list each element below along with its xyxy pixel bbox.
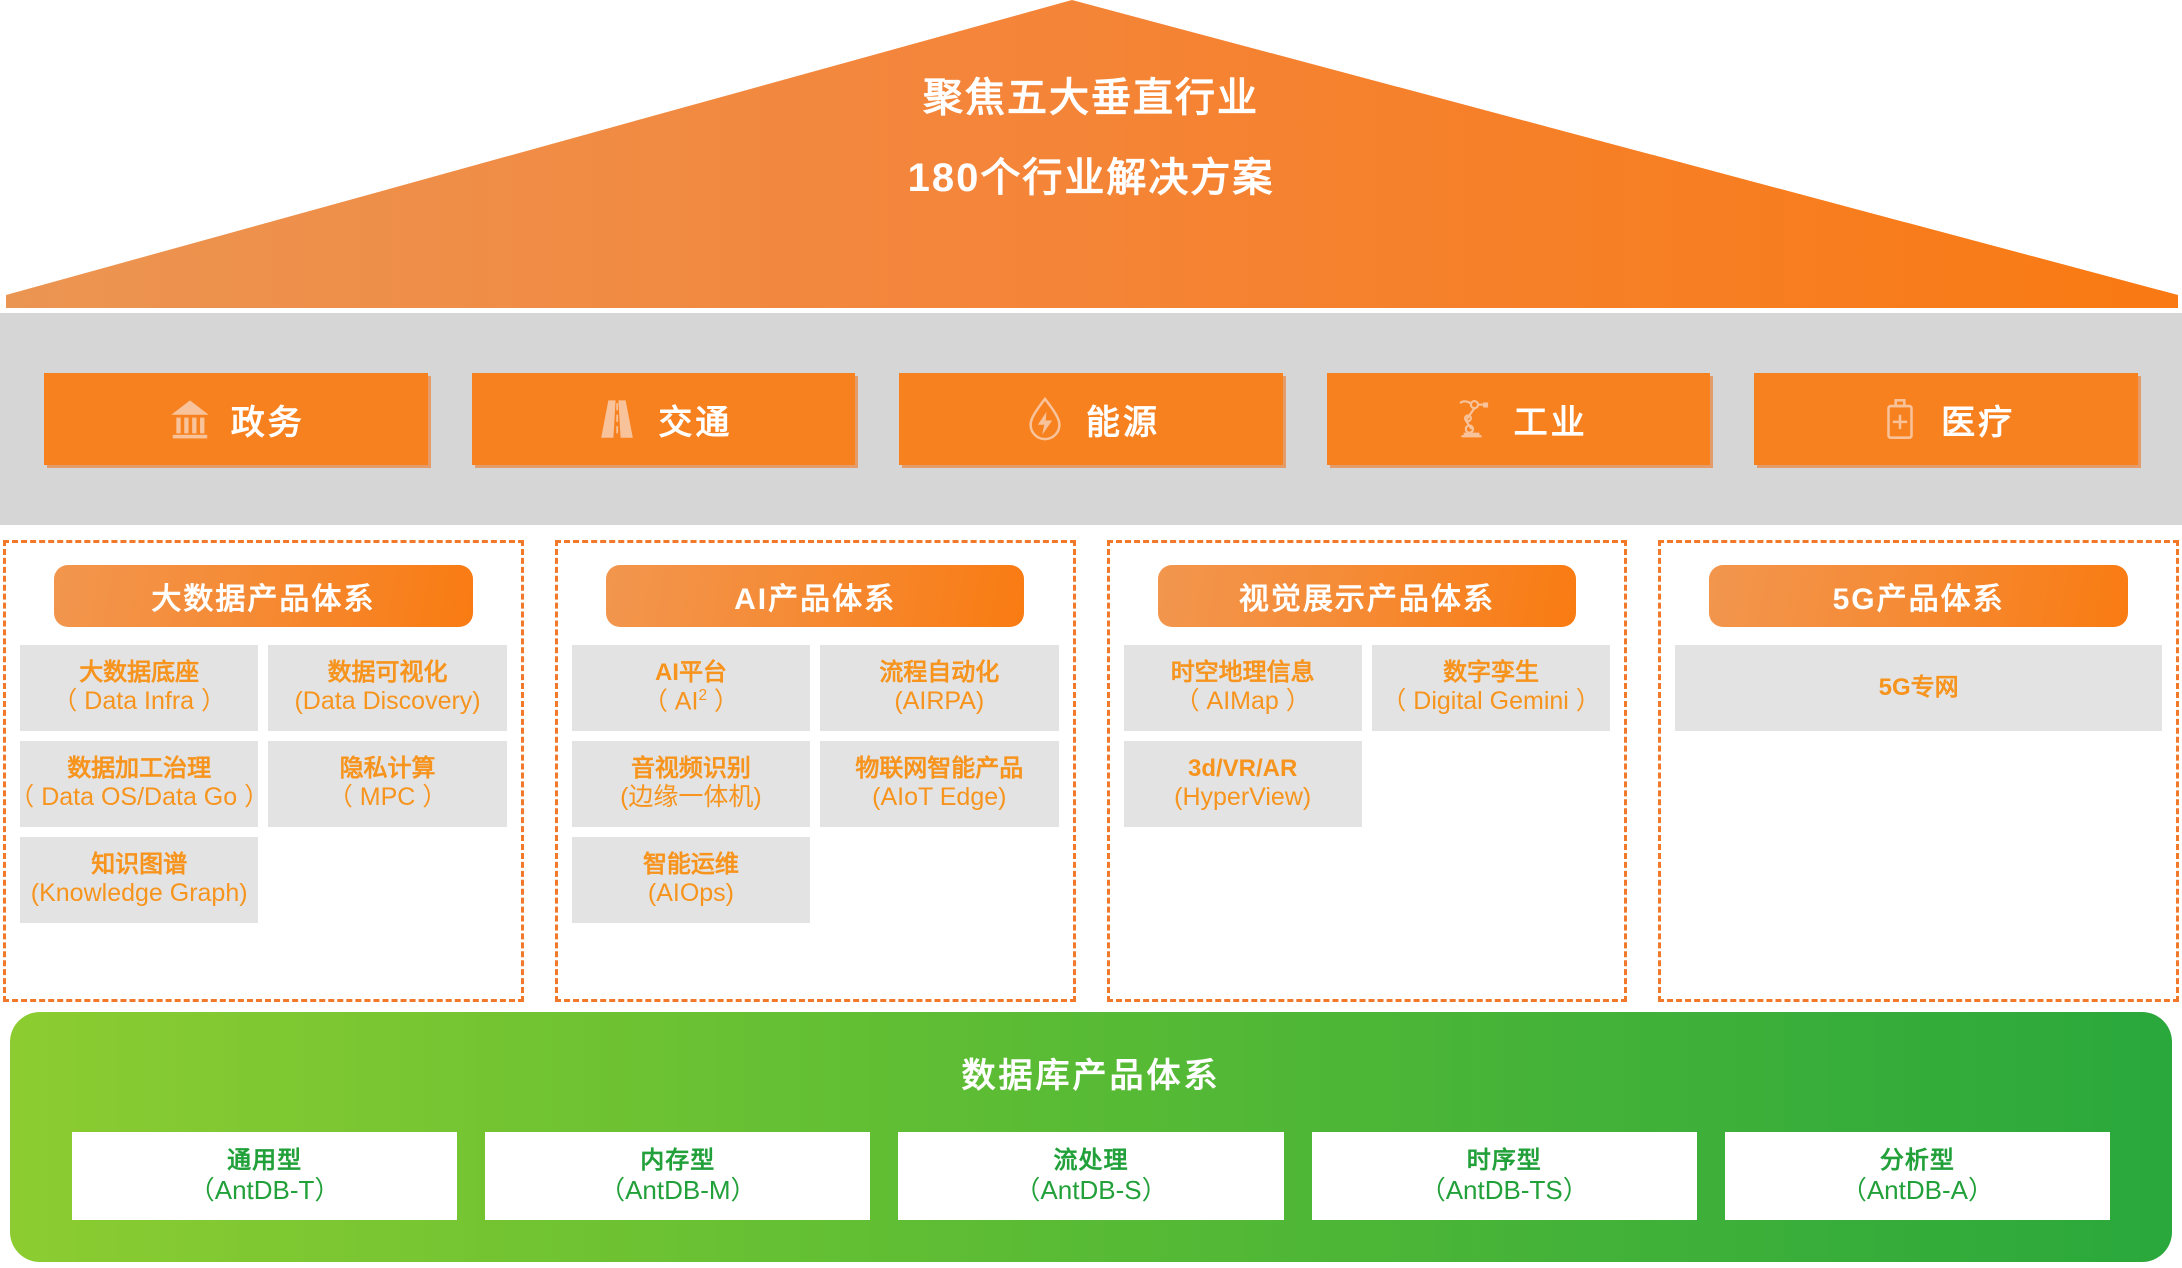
product-cell-cn: 隐私计算	[340, 755, 436, 783]
product-cell[interactable]: 大数据底座 （ Data Infra ）	[20, 645, 258, 731]
database-card-cn: 通用型	[227, 1147, 302, 1175]
column-header-5g: 5G产品体系	[1709, 565, 2128, 627]
product-column-ai: AI产品体系 AI平台 （ AI2 ） 流程自动化 (AIRPA) 音视频识别 …	[555, 540, 1076, 1002]
database-card[interactable]: 时序型 （AntDB-TS）	[1312, 1132, 1697, 1220]
product-cell[interactable]: 音视频识别 (边缘一体机)	[572, 741, 810, 827]
medical-kit-icon	[1877, 396, 1923, 442]
industry-card-energy[interactable]: 能源	[899, 373, 1283, 465]
database-card[interactable]: 分析型 （AntDB-A）	[1725, 1132, 2110, 1220]
product-cell[interactable]: 数字孪生 （ Digital Gemini ）	[1372, 645, 1610, 731]
database-card-cn: 分析型	[1880, 1147, 1955, 1175]
column-title: 大数据产品体系	[151, 574, 375, 618]
product-cell-en: (Knowledge Graph)	[31, 879, 248, 909]
product-cell-cn: 智能运维	[643, 851, 739, 879]
product-cell-en: （ AI2 ）	[643, 687, 739, 717]
product-cell-cn: 数字孪生	[1443, 659, 1539, 687]
product-cell-en: (Data Discovery)	[294, 687, 480, 717]
product-cell-cn: 数据可视化	[328, 659, 448, 687]
industry-band: 政务 交通 能源	[0, 313, 2182, 525]
product-cell-cn: 5G专网	[1879, 674, 1959, 702]
product-cell-en: （ Data OS/Data Go ）	[9, 783, 269, 813]
product-cell-cn: AI平台	[655, 659, 727, 687]
industry-card-healthcare[interactable]: 医疗	[1754, 373, 2138, 465]
product-cell-en: (边缘一体机)	[620, 783, 762, 813]
product-cell-en: (AIoT Edge)	[872, 783, 1006, 813]
road-icon	[594, 396, 640, 442]
product-column-visual: 视觉展示产品体系 时空地理信息 （ AIMap ） 数字孪生 （ Digital…	[1107, 540, 1628, 1002]
industry-label: 政务	[231, 395, 305, 444]
database-card[interactable]: 通用型 （AntDB-T）	[72, 1132, 457, 1220]
industry-label: 医疗	[1941, 395, 2015, 444]
industry-label: 交通	[658, 395, 732, 444]
column-cells: 5G专网	[1675, 645, 2162, 731]
product-cell-cn: 流程自动化	[879, 659, 999, 687]
roof-title-line1: 聚焦五大垂直行业	[0, 78, 2182, 118]
product-cell-cn: 3d/VR/AR	[1188, 755, 1297, 783]
roof-triangle: 聚焦五大垂直行业 180个行业解决方案	[0, 0, 2182, 313]
database-card-cn: 时序型	[1467, 1147, 1542, 1175]
product-cell[interactable]: 时空地理信息 （ AIMap ）	[1124, 645, 1362, 731]
product-cell[interactable]: AI平台 （ AI2 ）	[572, 645, 810, 731]
column-title: 5G产品体系	[1833, 574, 2005, 618]
product-cell-cn: 时空地理信息	[1171, 659, 1315, 687]
database-card-cn: 内存型	[640, 1147, 715, 1175]
bank-icon	[167, 396, 213, 442]
database-cards: 通用型 （AntDB-T） 内存型 （AntDB-M） 流处理 （AntDB-S…	[10, 1132, 2172, 1220]
database-card[interactable]: 内存型 （AntDB-M）	[485, 1132, 870, 1220]
product-cell-cn: 大数据底座	[79, 659, 199, 687]
product-cell-en: （ MPC ）	[328, 783, 447, 813]
product-cell-en: (HyperView)	[1174, 783, 1311, 813]
database-card[interactable]: 流处理 （AntDB-S）	[898, 1132, 1283, 1220]
product-cell[interactable]: 数据加工治理 （ Data OS/Data Go ）	[20, 741, 258, 827]
product-cell[interactable]: 智能运维 (AIOps)	[572, 837, 810, 923]
product-cell-cn: 知识图谱	[91, 851, 187, 879]
industry-label: 能源	[1086, 395, 1160, 444]
column-title: 视觉展示产品体系	[1239, 574, 1495, 618]
database-bar-title: 数据库产品体系	[10, 1048, 2172, 1097]
column-title: AI产品体系	[734, 574, 896, 618]
industry-card-government[interactable]: 政务	[44, 373, 428, 465]
product-cell[interactable]: 数据可视化 (Data Discovery)	[268, 645, 506, 731]
product-cell[interactable]: 流程自动化 (AIRPA)	[820, 645, 1058, 731]
column-header-visual: 视觉展示产品体系	[1158, 565, 1577, 627]
database-card-en: （AntDB-A）	[1841, 1175, 1994, 1205]
database-card-en: （AntDB-S）	[1014, 1175, 1167, 1205]
product-cell-en: （ Data Infra ）	[52, 687, 226, 717]
industry-label: 工业	[1514, 395, 1588, 444]
column-header-ai: AI产品体系	[606, 565, 1025, 627]
product-cell[interactable]: 5G专网	[1675, 645, 2162, 731]
industry-card-transport[interactable]: 交通	[472, 373, 856, 465]
product-cell-en: (AIRPA)	[894, 687, 984, 717]
product-column-bigdata: 大数据产品体系 大数据底座 （ Data Infra ） 数据可视化 (Data…	[3, 540, 524, 1002]
product-columns: 大数据产品体系 大数据底座 （ Data Infra ） 数据可视化 (Data…	[0, 540, 2182, 1002]
database-card-en: （AntDB-M）	[599, 1175, 756, 1205]
product-cell[interactable]: 3d/VR/AR (HyperView)	[1124, 741, 1362, 827]
product-column-5g: 5G产品体系 5G专网	[1658, 540, 2179, 1002]
robot-arm-icon	[1450, 396, 1496, 442]
industry-card-industry[interactable]: 工业	[1327, 373, 1711, 465]
database-card-en: （AntDB-TS）	[1420, 1175, 1589, 1205]
product-cell[interactable]: 知识图谱 (Knowledge Graph)	[20, 837, 258, 923]
column-cells: AI平台 （ AI2 ） 流程自动化 (AIRPA) 音视频识别 (边缘一体机)…	[572, 645, 1059, 923]
column-cells: 时空地理信息 （ AIMap ） 数字孪生 （ Digital Gemini ）…	[1124, 645, 1611, 827]
product-cell[interactable]: 物联网智能产品 (AIoT Edge)	[820, 741, 1058, 827]
column-cells: 大数据底座 （ Data Infra ） 数据可视化 (Data Discove…	[20, 645, 507, 923]
roof-title-block: 聚焦五大垂直行业 180个行业解决方案	[0, 78, 2182, 198]
product-cell-en: (AIOps)	[648, 879, 734, 909]
product-cell[interactable]: 隐私计算 （ MPC ）	[268, 741, 506, 827]
database-product-bar: 数据库产品体系 通用型 （AntDB-T） 内存型 （AntDB-M） 流处理 …	[10, 1012, 2172, 1262]
roof-title-line2: 180个行业解决方案	[0, 158, 2182, 198]
product-cell-en: （ Digital Gemini ）	[1381, 687, 1601, 717]
product-cell-cn: 数据加工治理	[67, 755, 211, 783]
column-header-bigdata: 大数据产品体系	[54, 565, 473, 627]
energy-drop-icon	[1022, 396, 1068, 442]
database-card-en: （AntDB-T）	[189, 1175, 341, 1205]
database-card-cn: 流处理	[1054, 1147, 1129, 1175]
product-cell-en: （ AIMap ）	[1175, 687, 1311, 717]
product-cell-cn: 物联网智能产品	[855, 755, 1023, 783]
product-cell-cn: 音视频识别	[631, 755, 751, 783]
